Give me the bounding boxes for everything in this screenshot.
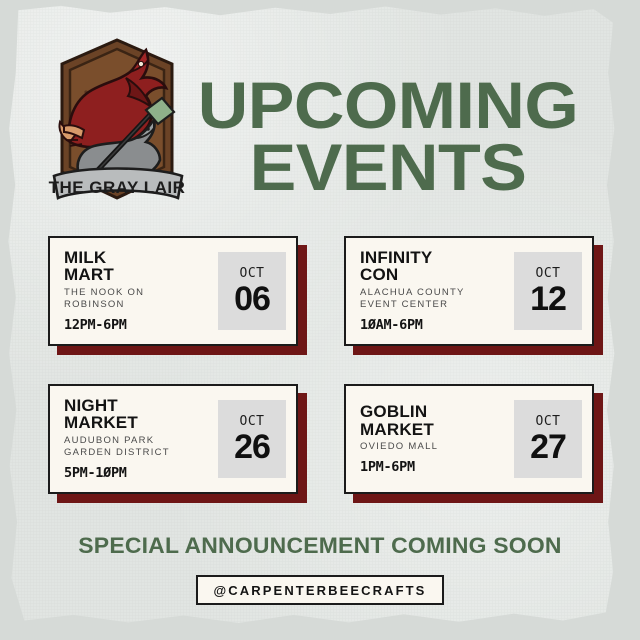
social-handle-badge[interactable]: @CARPENTERBEECRAFTS [196,575,445,605]
event-date-badge: OCT 12 [514,252,582,330]
event-venue: OVIEDO MALL [360,441,508,454]
event-name: MILK MART [64,249,212,284]
events-grid: MILK MART THE NOOK ON ROBINSON 12PM-6PM … [48,236,594,494]
event-time: 1PM-6PM [360,459,508,475]
event-card-milk-mart[interactable]: MILK MART THE NOOK ON ROBINSON 12PM-6PM … [48,236,298,346]
event-month: OCT [240,415,265,428]
event-month: OCT [536,267,561,280]
event-month: OCT [240,267,265,280]
card-body[interactable]: GOBLIN MARKET OVIEDO MALL 1PM-6PM OCT 27 [344,384,594,494]
event-card-infinity-con[interactable]: INFINITY CON ALACHUA COUNTY EVENT CENTER… [344,236,594,346]
event-card-night-market[interactable]: NIGHT MARKET AUDUBON PARK GARDEN DISTRIC… [48,384,298,494]
card-info: NIGHT MARKET AUDUBON PARK GARDEN DISTRIC… [64,395,212,483]
title-line-events: EVENTS [165,138,610,196]
event-date-badge: OCT 26 [218,400,286,478]
poster-content: THE GRAY LAIR UPCOMING EVENTS MILK MART … [0,0,640,640]
card-body[interactable]: INFINITY CON ALACHUA COUNTY EVENT CENTER… [344,236,594,346]
event-venue: AUDUBON PARK GARDEN DISTRICT [64,435,212,460]
card-body[interactable]: NIGHT MARKET AUDUBON PARK GARDEN DISTRIC… [48,384,298,494]
event-venue: THE NOOK ON ROBINSON [64,287,212,312]
card-info: GOBLIN MARKET OVIEDO MALL 1PM-6PM [360,395,508,483]
title-line-upcoming: UPCOMING [165,76,610,134]
event-venue: ALACHUA COUNTY EVENT CENTER [360,287,508,312]
poster-header: THE GRAY LAIR UPCOMING EVENTS [0,18,640,218]
card-info: MILK MART THE NOOK ON ROBINSON 12PM-6PM [64,247,212,335]
event-date-badge: OCT 06 [218,252,286,330]
event-date-badge: OCT 27 [514,400,582,478]
event-name: INFINITY CON [360,249,508,284]
poster-canvas: THE GRAY LAIR UPCOMING EVENTS MILK MART … [0,0,640,640]
event-time: 12PM-6PM [64,317,212,333]
event-day: 27 [530,430,566,464]
special-announcement-text: SPECIAL ANNOUNCEMENT COMING SOON [0,533,640,559]
event-month: OCT [536,415,561,428]
page-title: UPCOMING EVENTS [178,76,598,196]
event-time: 5PM-1ØPM [64,465,212,481]
event-name: NIGHT MARKET [64,397,212,432]
event-day: 06 [234,282,270,316]
event-day: 26 [234,430,270,464]
social-handle-container: @CARPENTERBEECRAFTS [0,575,640,605]
card-body[interactable]: MILK MART THE NOOK ON ROBINSON 12PM-6PM … [48,236,298,346]
card-info: INFINITY CON ALACHUA COUNTY EVENT CENTER… [360,247,508,335]
event-time: 1ØAM-6PM [360,317,508,333]
event-name: GOBLIN MARKET [360,403,508,438]
event-card-goblin-market[interactable]: GOBLIN MARKET OVIEDO MALL 1PM-6PM OCT 27 [344,384,594,494]
event-day: 12 [530,282,566,316]
